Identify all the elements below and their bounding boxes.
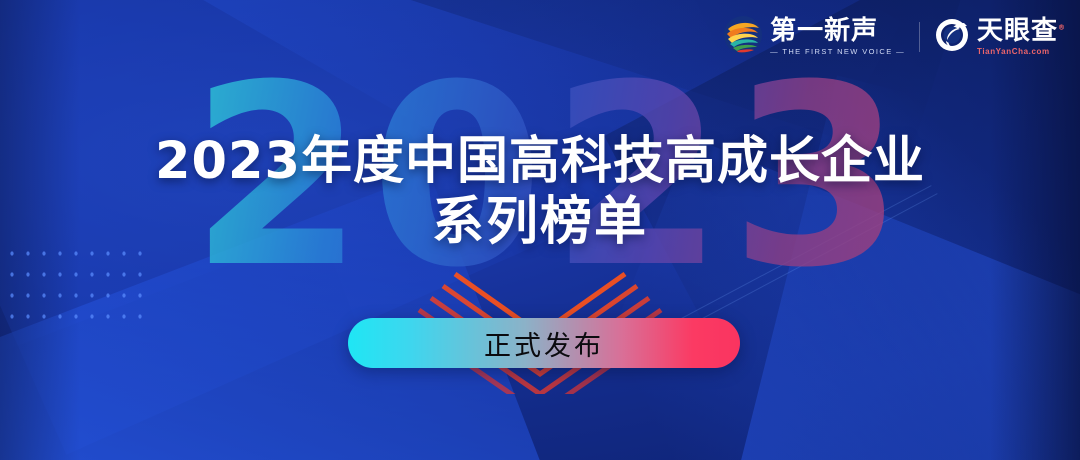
release-cta-button[interactable]: 正式发布 xyxy=(348,318,740,368)
promo-banner: 2023 2023年度中国高科技高成长企业 系列榜单 正式发布 xyxy=(0,0,1080,460)
trademark-icon: ® xyxy=(1058,24,1066,32)
bg-facet-right-bright xyxy=(735,75,1080,460)
bg-facet-top-left xyxy=(0,0,761,455)
logo-divider xyxy=(919,22,920,52)
release-cta-label: 正式发布 xyxy=(484,324,604,363)
title-line-2: 系列榜单 xyxy=(0,192,1080,253)
ghost-year-text: 2023 xyxy=(190,52,910,302)
bg-edge-vignette-right xyxy=(990,0,1080,460)
dot-grid-decoration xyxy=(4,243,150,321)
title-line-1: 2023年度中国高科技高成长企业 xyxy=(0,132,1080,192)
logo-diyixinsheng-tagline: — THE FIRST NEW VOICE — xyxy=(770,47,905,56)
page-title: 2023年度中国高科技高成长企业 系列榜单 xyxy=(0,132,1080,254)
logo-bar: 第一新声 — THE FIRST NEW VOICE — 天眼查® TianYa… xyxy=(723,14,1066,60)
logo-diyixinsheng-text: 第一新声 — THE FIRST NEW VOICE — xyxy=(770,18,905,56)
bg-facet-right-dark xyxy=(604,0,1080,460)
ghost-year-container: 2023 xyxy=(0,52,1080,302)
camera-aperture-icon xyxy=(934,17,970,58)
bg-facet-bottom-right xyxy=(515,137,1080,460)
bg-edge-vignette-left xyxy=(0,0,80,460)
swirl-globe-icon xyxy=(723,15,763,60)
bg-facet-bottom-left-bright xyxy=(0,172,598,460)
logo-diyixinsheng-name: 第一新声 xyxy=(770,18,905,45)
logo-tianyancha[interactable]: 天眼查® TianYanCha.com xyxy=(934,17,1066,58)
logo-tianyancha-name-cn: 天眼查 xyxy=(977,16,1058,46)
logo-tianyancha-text: 天眼查® TianYanCha.com xyxy=(977,18,1066,56)
logo-tianyancha-name: 天眼查® xyxy=(977,18,1066,45)
logo-tianyancha-tagline: TianYanCha.com xyxy=(977,47,1066,56)
logo-diyixinsheng[interactable]: 第一新声 — THE FIRST NEW VOICE — xyxy=(723,15,905,60)
